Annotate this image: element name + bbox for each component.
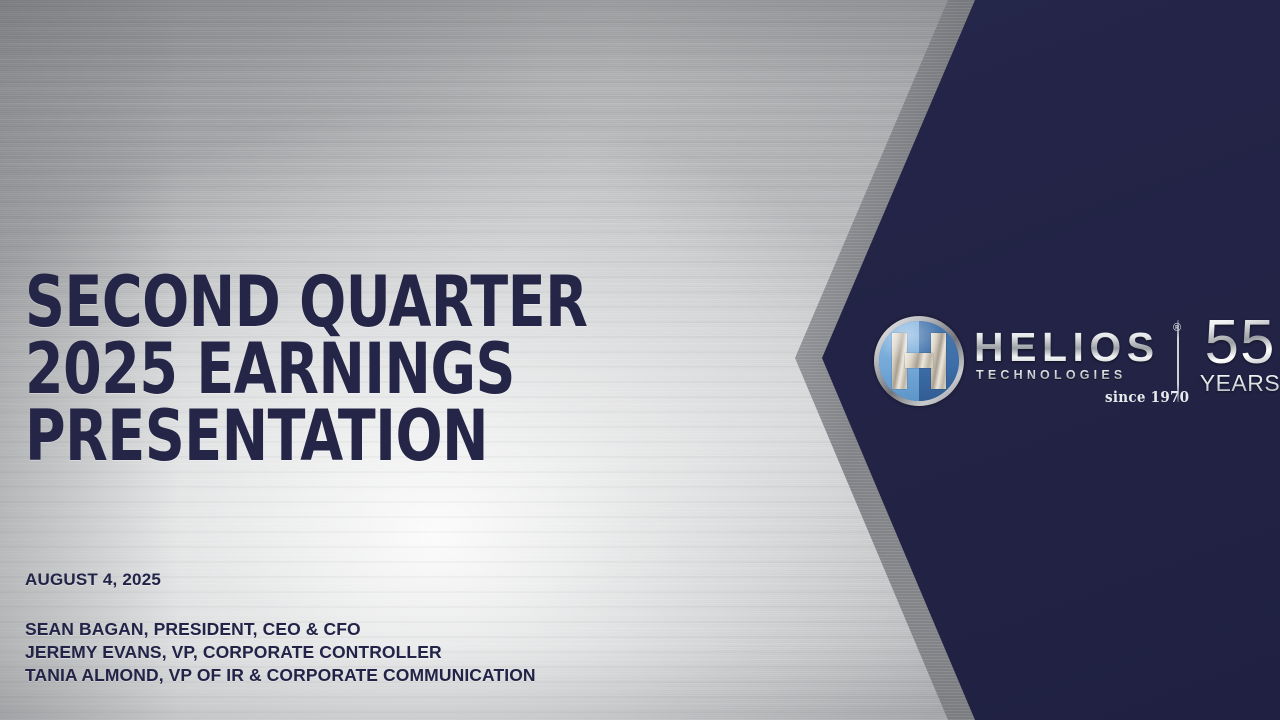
presenter-item: SEAN BAGAN, PRESIDENT, CEO & CFO xyxy=(25,618,536,641)
presentation-date: AUGUST 4, 2025 xyxy=(25,570,161,590)
title-line-1: SECOND QUARTER xyxy=(25,269,588,336)
anniversary-number: 55 xyxy=(1205,308,1276,377)
helios-logo-lockup: HELIOS ® TECHNOLOGIES since 1970 55 YEAR… xyxy=(874,310,1274,412)
brand-tagline: TECHNOLOGIES xyxy=(976,368,1126,382)
brand-name: HELIOS xyxy=(974,324,1160,371)
presenter-list: SEAN BAGAN, PRESIDENT, CEO & CFO JEREMY … xyxy=(25,618,536,687)
title-line-2: 2025 EARNINGS xyxy=(25,336,588,403)
helios-emblem-icon xyxy=(874,316,964,406)
presenter-item: JEREMY EVANS, VP, CORPORATE CONTROLLER xyxy=(25,641,536,664)
page-title: SECOND QUARTER 2025 EARNINGS PRESENTATIO… xyxy=(25,269,588,471)
title-line-3: PRESENTATION xyxy=(25,403,588,470)
title-slide: SECOND QUARTER 2025 EARNINGS PRESENTATIO… xyxy=(0,0,1280,720)
emblem-gloss xyxy=(879,321,959,401)
anniversary-badge: 55 YEARS xyxy=(1192,316,1280,397)
logo-divider xyxy=(1177,320,1179,402)
presenter-item: TANIA ALMOND, VP OF IR & CORPORATE COMMU… xyxy=(25,664,536,687)
anniversary-label: YEARS xyxy=(1192,370,1280,397)
